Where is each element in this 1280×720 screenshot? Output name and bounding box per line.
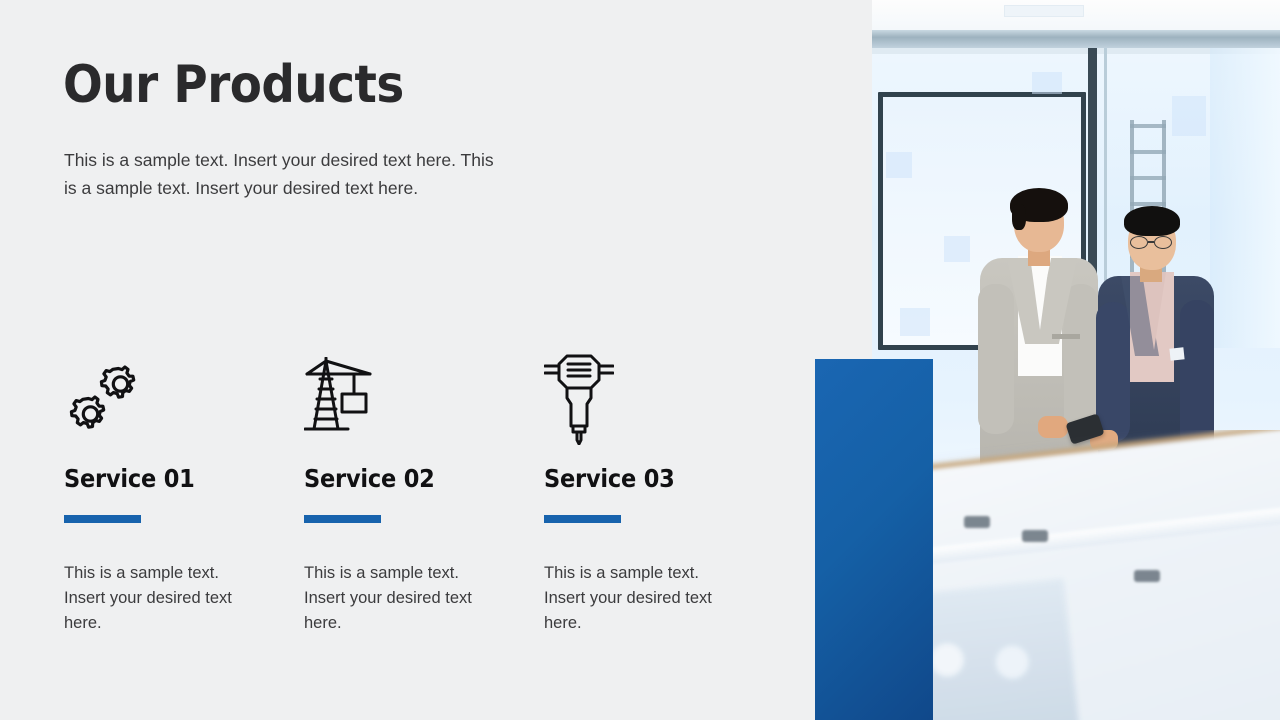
accent-rule [64,515,141,523]
window-pane-highlight [944,236,970,262]
service-column-2: Service 02 This is a sample text. Insert… [304,348,544,636]
window-pane-highlight [1172,96,1206,136]
gears-icon [64,348,304,448]
service-title: Service 02 [304,464,544,493]
slide-canvas: Our Products This is a sample text. Inse… [0,0,1280,720]
window-pane-highlight [900,308,930,336]
hero-photo [872,0,1280,720]
window-pane-highlight [886,152,912,178]
eyeglasses [1130,236,1174,249]
page-title: Our Products [63,58,404,113]
conference-table [872,430,1280,720]
service-title: Service 01 [64,464,304,493]
window-mullion-top [872,30,1280,48]
service-column-3: Service 03 This is a sample text. Insert… [544,348,784,636]
service-title: Service 03 [544,464,784,493]
jackhammer-icon [544,348,784,448]
window-right-strip [1210,48,1280,348]
window-pane-highlight [1032,72,1062,94]
accent-rule [544,515,621,523]
service-description: This is a sample text. Insert your desir… [64,561,249,636]
accent-rule [304,515,381,523]
service-column-1: Service 01 This is a sample text. Insert… [64,348,304,636]
services-row: Service 01 This is a sample text. Insert… [64,348,784,636]
ceiling-light [1004,5,1084,17]
intro-paragraph: This is a sample text. Insert your desir… [64,146,504,202]
tower-crane-icon [304,348,544,448]
ceiling [872,0,1280,30]
blue-accent-block [815,359,933,720]
service-description: This is a sample text. Insert your desir… [304,561,489,636]
service-description: This is a sample text. Insert your desir… [544,561,729,636]
